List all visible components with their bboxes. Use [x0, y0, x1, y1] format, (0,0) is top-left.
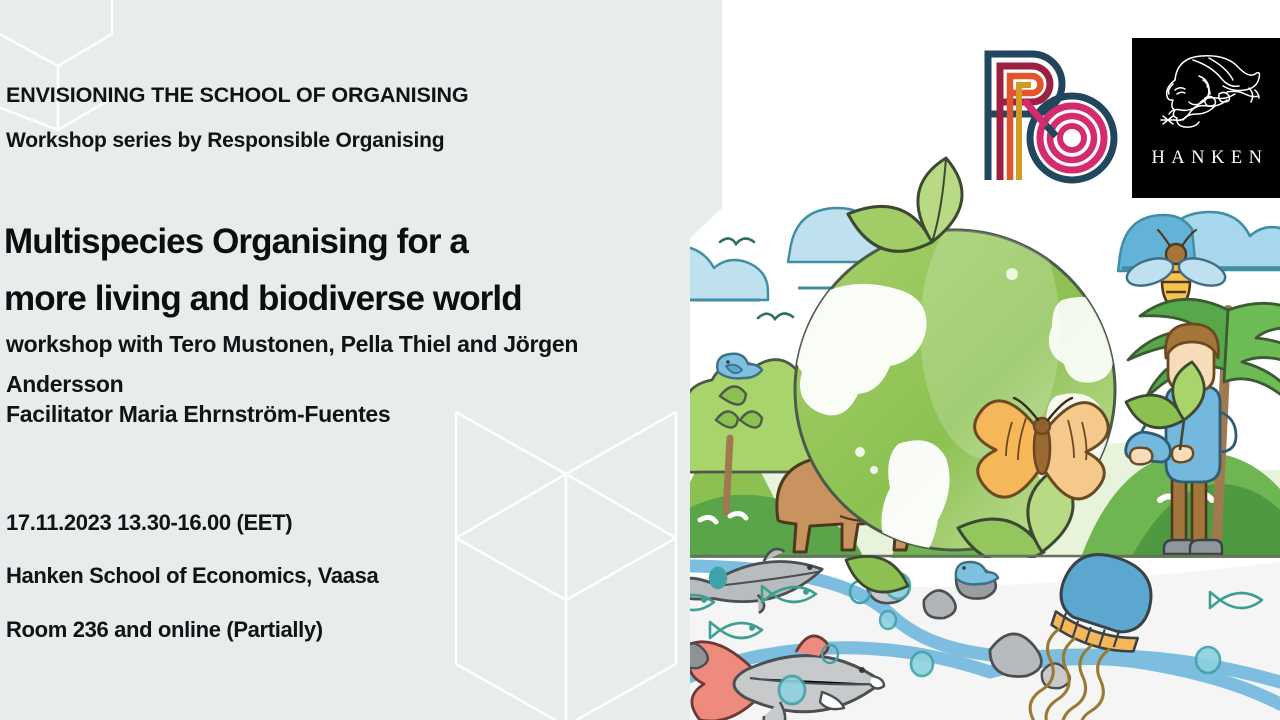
- series-subtitle: Workshop series by Responsible Organisin…: [6, 130, 666, 152]
- hanken-wordmark: HANKEN: [1145, 148, 1268, 169]
- facilitator-text: Facilitator Maria Ehrnström-Fuentes: [6, 400, 686, 430]
- info-panel: ENVISIONING THE SCHOOL OF ORGANISING Wor…: [0, 0, 726, 720]
- hanken-logo: HANKEN: [1132, 38, 1280, 198]
- title-line-1: Multispecies Organising for a: [4, 222, 468, 261]
- mercury-head-icon: [1149, 50, 1265, 146]
- poster-canvas: ENVISIONING THE SCHOOL OF ORGANISING Wor…: [0, 0, 1280, 720]
- bubble-icon: [1196, 647, 1220, 673]
- event-details: 17.11.2023 13.30-16.00 (EET) Hanken Scho…: [6, 510, 686, 670]
- title-line-2: more living and biodiverse world: [4, 271, 704, 328]
- event-room: Room 236 and online (Partially): [6, 617, 686, 642]
- presenters-text: workshop with Tero Mustonen, Pella Thiel…: [6, 325, 686, 404]
- page-title: Multispecies Organising for a more livin…: [4, 214, 704, 327]
- event-datetime: 17.11.2023 13.30-16.00 (EET): [6, 510, 686, 535]
- water-scene: [660, 542, 1280, 720]
- event-venue: Hanken School of Economics, Vaasa: [6, 563, 686, 588]
- responsible-organising-logo: [972, 38, 1120, 190]
- event-copy: ENVISIONING THE SCHOOL OF ORGANISING Wor…: [0, 0, 690, 720]
- series-kicker: ENVISIONING THE SCHOOL OF ORGANISING: [6, 84, 666, 107]
